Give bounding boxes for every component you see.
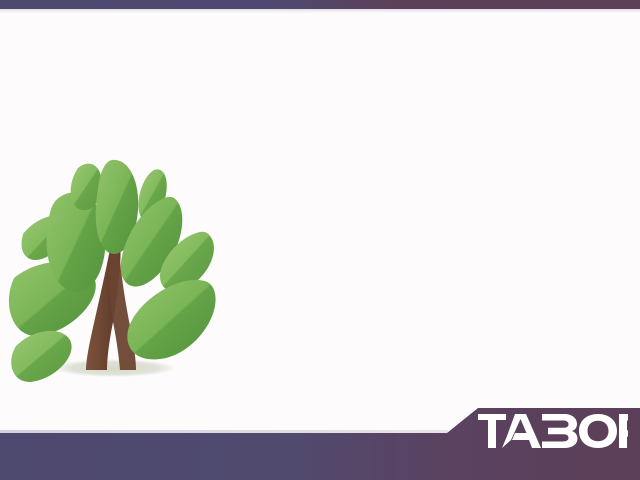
logo-letter-b bbox=[542, 414, 578, 448]
brand-wordmark bbox=[478, 414, 628, 448]
tree-illustration-svg bbox=[8, 150, 220, 390]
slide-heading bbox=[22, 25, 617, 64]
tree-leaf-bottom-left bbox=[11, 331, 71, 382]
tree-ground-shadow bbox=[52, 359, 176, 377]
tree-leaf-lower-right bbox=[127, 280, 215, 359]
logo-letter-t bbox=[478, 414, 506, 448]
top-accent-strip bbox=[0, 0, 640, 9]
logo-letter-o bbox=[579, 414, 617, 448]
logo-letter-r bbox=[619, 414, 628, 448]
heading-line-2 bbox=[22, 25, 617, 64]
tree-illustration bbox=[8, 150, 220, 390]
slide-canvas bbox=[0, 0, 640, 480]
brand-logo[interactable] bbox=[478, 414, 628, 472]
top-accent-strip-shadow bbox=[0, 9, 640, 13]
logo-letter-a bbox=[502, 414, 541, 448]
brand-wordmark-svg bbox=[478, 414, 628, 448]
